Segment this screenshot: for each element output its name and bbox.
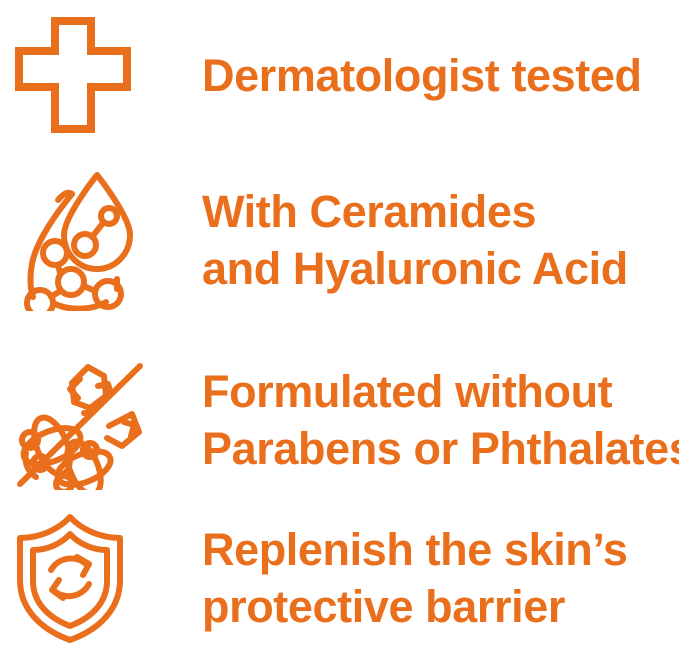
benefit-item-dermatologist-tested: Dermatologist tested: [0, 0, 679, 150]
benefit-icon-cell: [0, 512, 196, 644]
benefit-text-cell: Dermatologist tested: [196, 47, 679, 104]
benefit-item-ceramides-hyaluronic-acid: With Ceramides and Hyaluronic Acid: [0, 150, 679, 330]
benefit-label-line-2: and Hyaluronic Acid: [202, 240, 679, 297]
benefit-label-line-1: Dermatologist tested: [202, 47, 679, 104]
benefit-item-no-parabens-phthalates: Formulated without Parabens or Phthalate…: [0, 330, 679, 510]
benefit-text-cell: Formulated without Parabens or Phthalate…: [196, 363, 679, 477]
benefit-label-line-1: Formulated without: [202, 363, 679, 420]
benefit-label-line-2: protective barrier: [202, 578, 679, 635]
benefit-icon-cell: [0, 350, 196, 490]
benefit-label-line-2: Parabens or Phthalates: [202, 420, 679, 477]
benefit-label-line-1: With Ceramides: [202, 183, 679, 240]
benefit-text-cell: With Ceramides and Hyaluronic Acid: [196, 183, 679, 297]
benefit-text-cell: Replenish the skin’s protective barrier: [196, 521, 679, 635]
droplet-molecule-icon: [14, 169, 142, 311]
no-chemicals-icon: [14, 350, 146, 490]
shield-renew-icon: [14, 512, 126, 644]
benefit-icon-cell: [0, 169, 196, 311]
benefit-item-protective-barrier: Replenish the skin’s protective barrier: [0, 510, 679, 646]
benefit-icon-cell: [0, 17, 196, 133]
benefit-label-line-1: Replenish the skin’s: [202, 521, 679, 578]
medical-cross-icon: [14, 17, 132, 133]
product-benefits-list: Dermatologist tested: [0, 0, 679, 646]
